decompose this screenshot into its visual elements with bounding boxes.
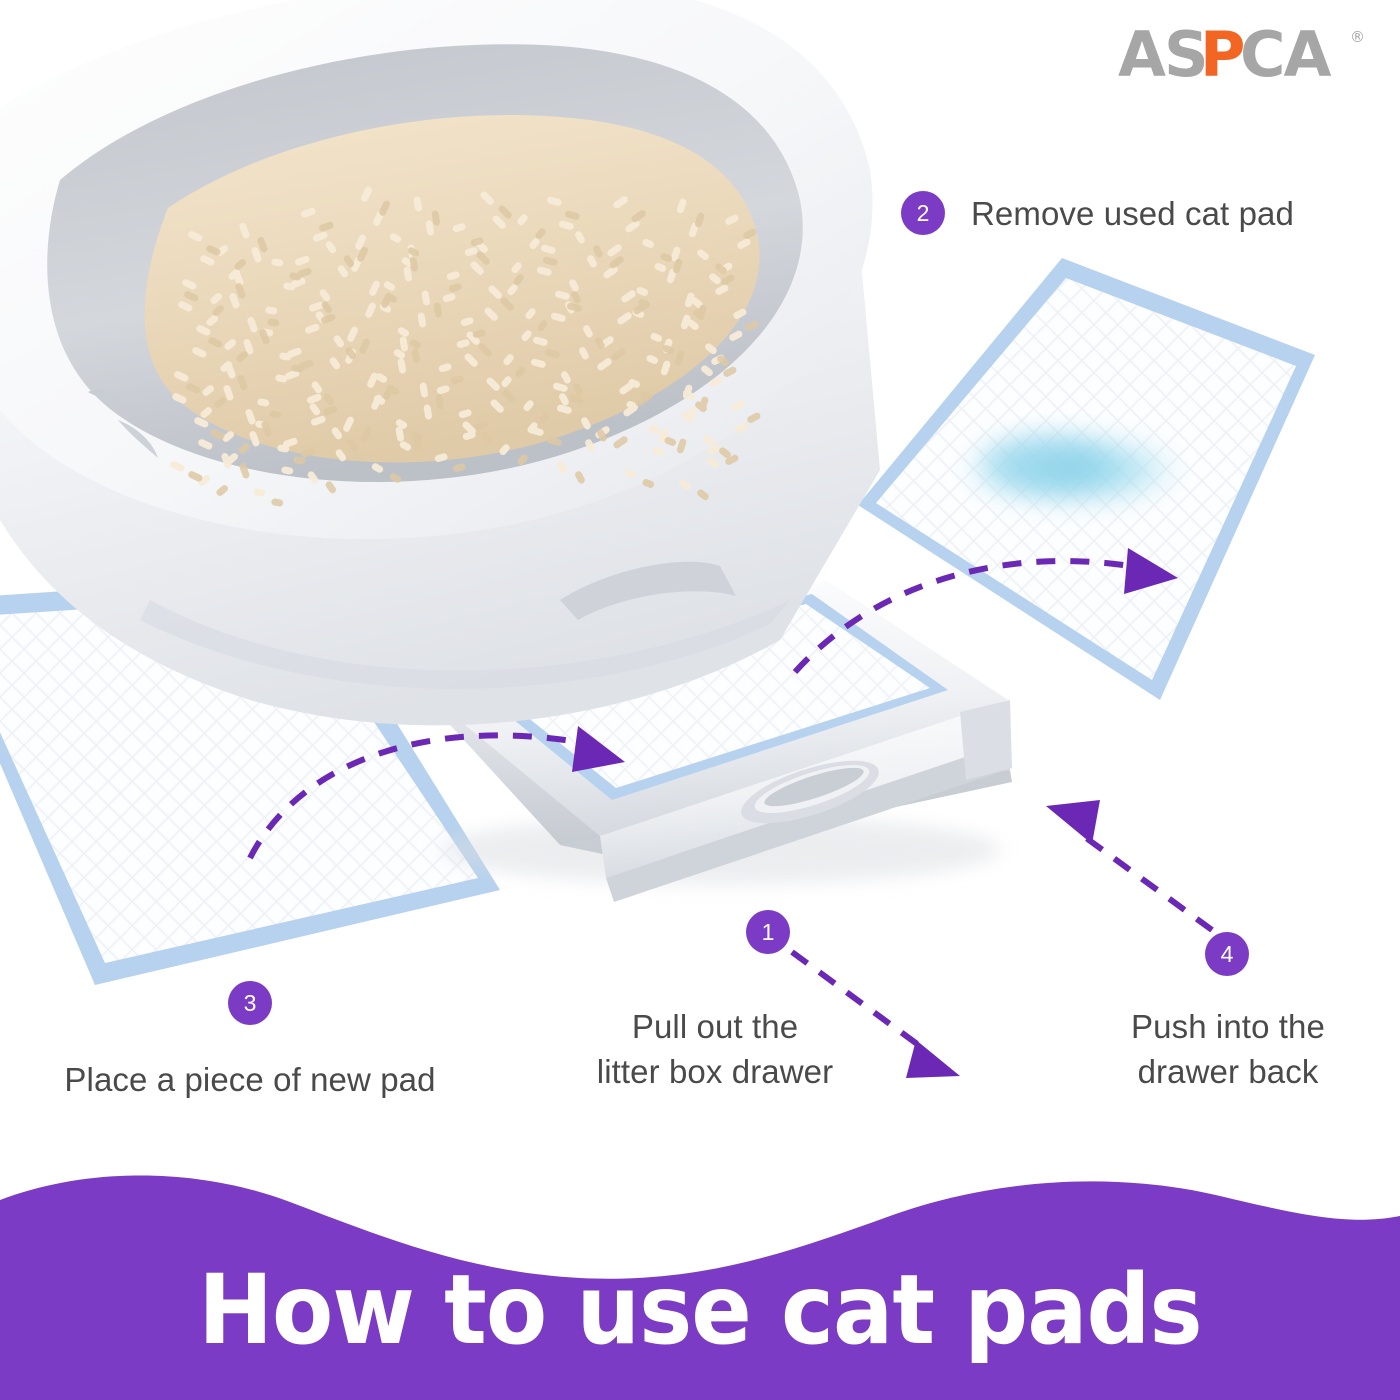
arrow-push-drawer-back	[1046, 800, 1212, 930]
litter-box-illustration	[0, 0, 880, 725]
step-badge-4: 4	[1205, 932, 1249, 976]
step-label-4: Push into the drawer back	[1058, 1005, 1398, 1094]
step-label-2: Remove used cat pad	[971, 192, 1371, 237]
step-badge-1: 1	[746, 910, 790, 954]
banner-title: How to use cat pads	[49, 1262, 1351, 1358]
infographic-canvas: AS P CA ® 2 Remove used cat pad 1 Pull o…	[0, 0, 1400, 1400]
aspca-logo: AS P CA ®	[1118, 16, 1380, 96]
step-badge-3: 3	[228, 981, 272, 1025]
aspca-logo-text-accent: P	[1200, 18, 1243, 91]
used-pad-illustration	[858, 258, 1315, 700]
step-label-1: Pull out the litter box drawer	[545, 1005, 885, 1094]
registered-trademark-icon: ®	[1350, 28, 1365, 46]
step-label-3: Place a piece of new pad	[20, 1058, 480, 1103]
aspca-logo-text-gray2: CA	[1240, 18, 1332, 91]
step-badge-2: 2	[901, 191, 945, 235]
product-illustration	[0, 0, 1400, 1160]
aspca-logo-text-gray: AS	[1118, 18, 1207, 91]
